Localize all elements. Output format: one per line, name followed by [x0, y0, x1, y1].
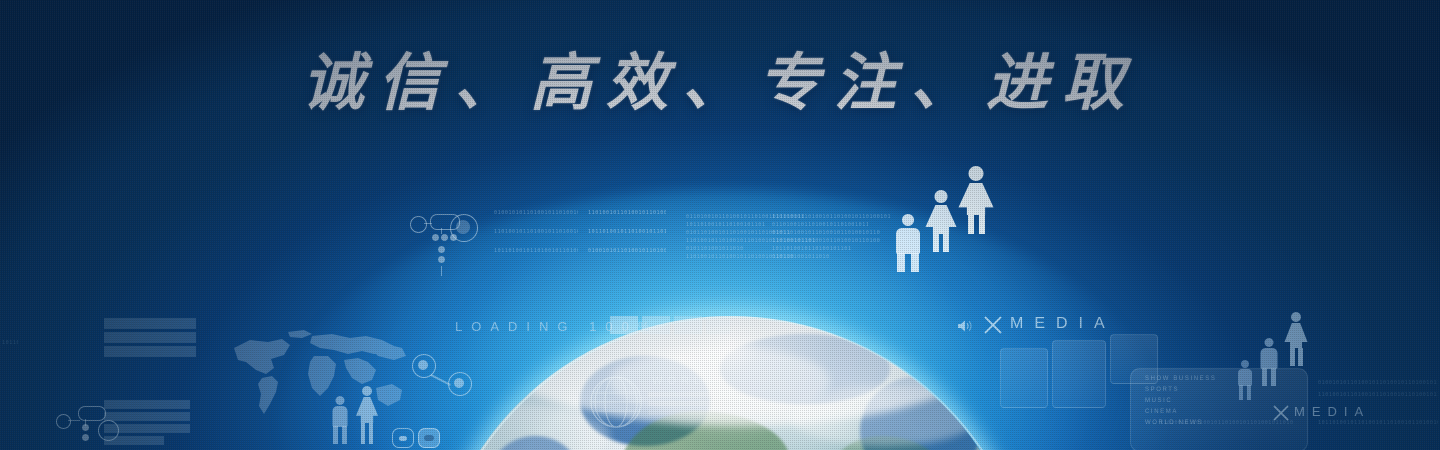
world-map-icon — [216, 326, 416, 426]
hero-banner: 1011010010110100101101001011010010110100… — [0, 0, 1440, 450]
page-title: 诚信、高效、专注、进取 — [0, 52, 1440, 114]
